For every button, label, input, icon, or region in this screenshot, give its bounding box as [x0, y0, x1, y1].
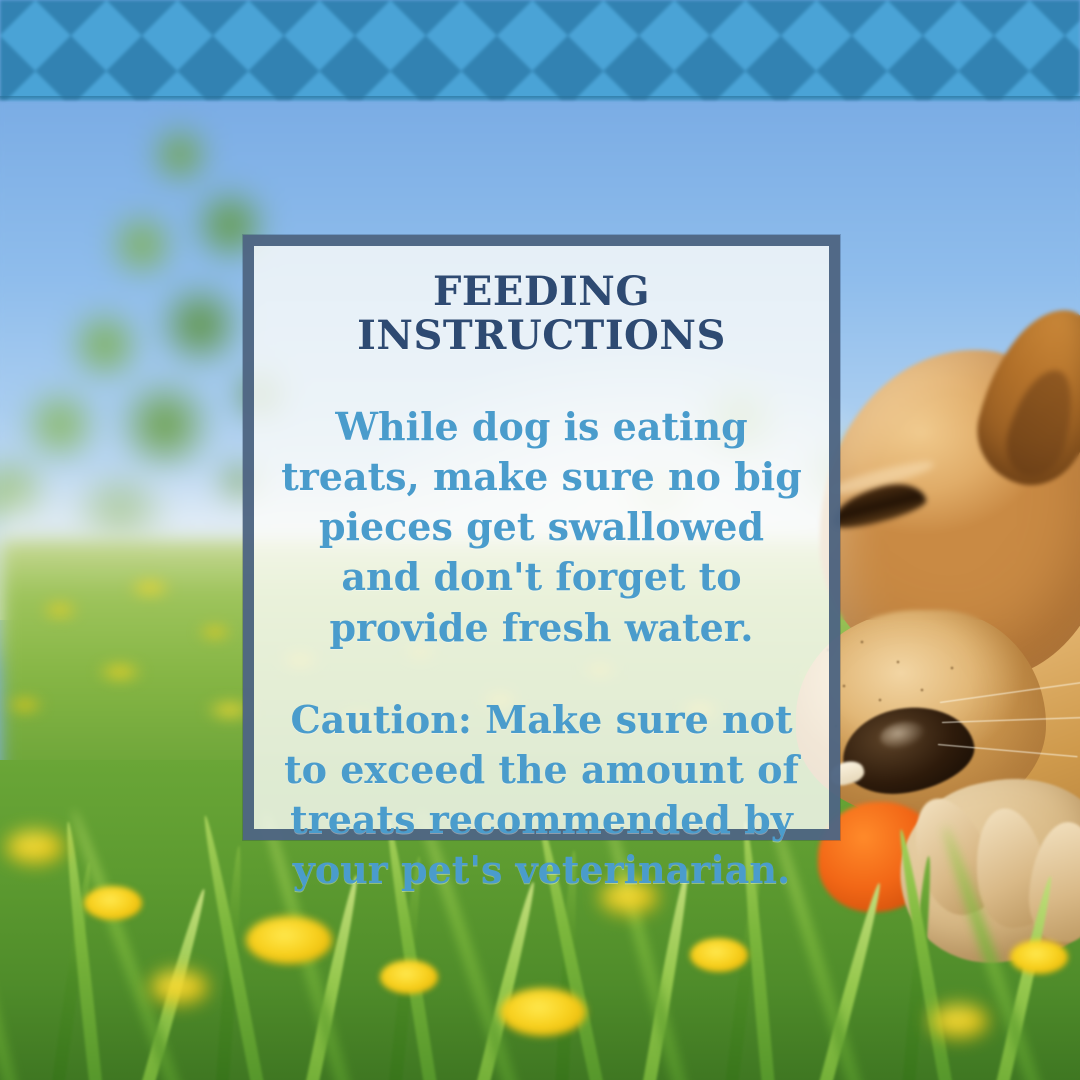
panel-content: FEEDING INSTRUCTIONS While dog is eating…: [254, 246, 829, 829]
gingham-banner: [0, 0, 1080, 100]
dandelion-flower: [380, 960, 438, 994]
dandelion-flower: [500, 988, 586, 1036]
dandelion-flower: [84, 886, 142, 920]
spacer: [272, 364, 811, 402]
dandelion-flower: [930, 1004, 988, 1038]
dandelion-flower: [1010, 940, 1068, 974]
dandelion-flower: [246, 916, 332, 964]
dandelion-flower: [690, 938, 748, 972]
banner-bottom-edge: [0, 96, 1080, 102]
dandelion-flower: [6, 830, 64, 864]
feeding-instructions-panel: FEEDING INSTRUCTIONS While dog is eating…: [243, 235, 840, 840]
page-title: FEEDING INSTRUCTIONS: [272, 270, 811, 358]
poster-canvas: FEEDING INSTRUCTIONS While dog is eating…: [0, 0, 1080, 1080]
dandelion-flower: [150, 970, 208, 1004]
spacer: [272, 653, 811, 695]
instruction-paragraph-1: While dog is eating treats, make sure no…: [272, 402, 811, 653]
instruction-paragraph-2: Caution: Make sure not to exceed the amo…: [272, 695, 811, 896]
